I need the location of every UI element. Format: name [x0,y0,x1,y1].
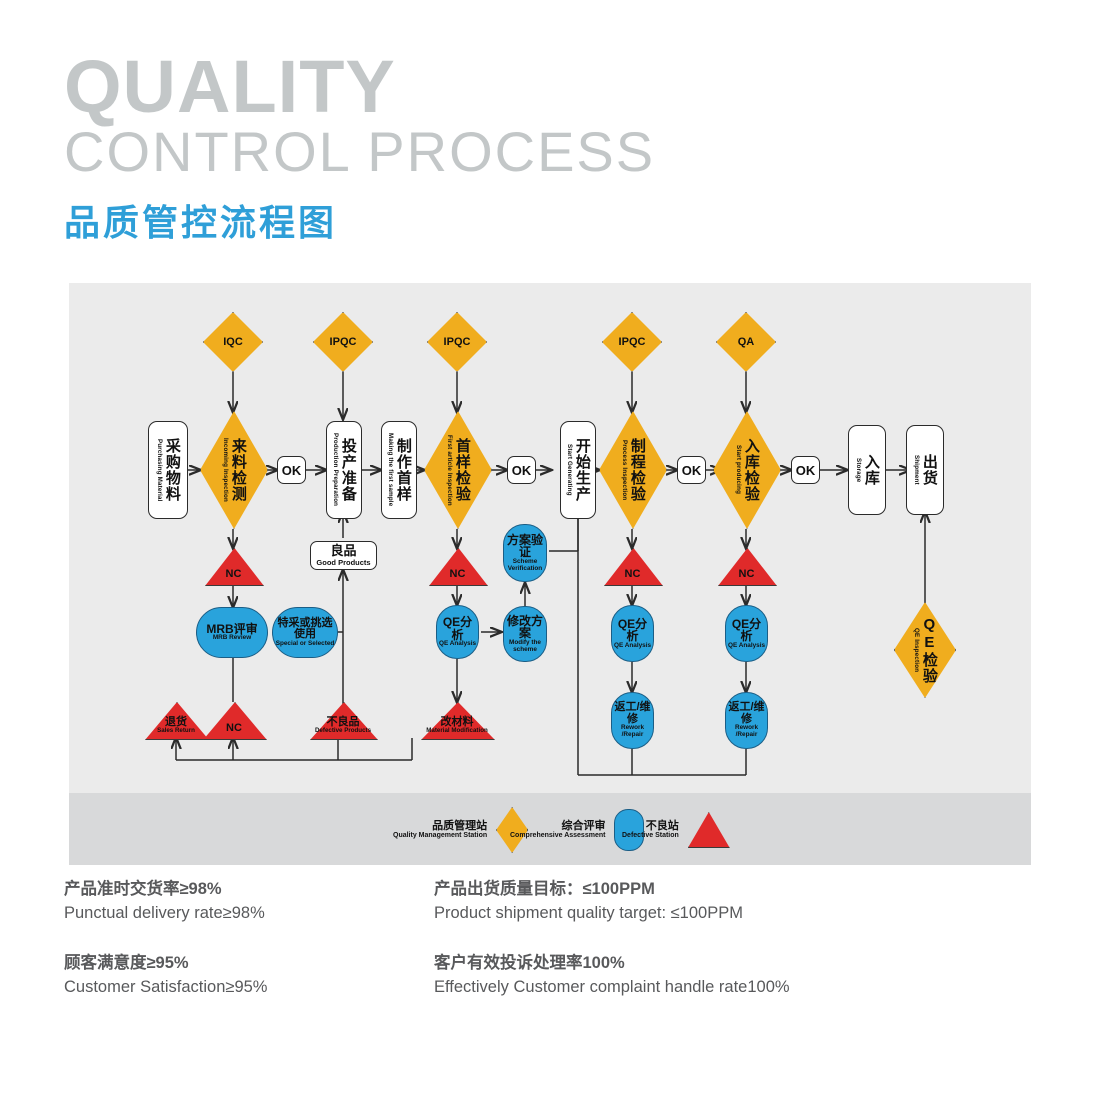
legend-label-en: Defective Station [622,832,679,840]
inspection-label-cn: 来料检测 [230,438,246,502]
blue-label-cn: 返工/维修 [612,702,653,725]
blue-label-en: QE Analysis [439,641,476,648]
blue-label-en: Scheme Verification [504,559,546,572]
blue-node-qe-analysis-1[interactable]: QE分析 QE Analysis [436,605,479,659]
process-label-cn: 制作首样 [395,438,411,502]
process-label-en: Start Generating [566,444,573,496]
good-products-label-en: Good Products [316,559,370,567]
process-label-cn: 开始生产 [574,438,590,502]
inspection-label-cn: 入库检验 [743,438,759,502]
inspection-label-en: Incoming Inspection [222,438,229,502]
defect-label: 改材料 Material Modification [421,717,493,734]
nc-label: NC [718,569,775,580]
blue-label-cn: QE分析 [726,618,767,643]
blue-label-cn: QE分析 [612,618,653,643]
blue-label-en: Special or Selected [276,641,335,648]
kpi-item: 客户有效投诉处理率100% Effectively Customer compl… [434,952,994,1000]
inspection-label-en: Process Inspection [621,440,628,500]
title-control-process: CONTROL PROCESS [64,124,964,180]
blue-label-en: Rework /Repair [612,725,653,738]
ok-badge-1[interactable]: OK [277,456,306,484]
defect-label-en: Sales Return [145,728,207,734]
blue-node-qe-analysis-2[interactable]: QE分析 QE Analysis [611,605,654,662]
nc-triangle-first-article[interactable]: NC [429,548,486,584]
nc-triangle-process[interactable]: NC [604,548,661,584]
process-label-en: Making the first sample [387,433,394,506]
process-label-en: Purchasing Material [156,439,163,502]
legend-item-defective-station: 不良站 Defective Station [622,812,730,848]
legend-label-cn: 不良站 [622,820,679,832]
inspection-label-cn: 首样检验 [454,438,470,502]
inspection-label-cn: QE检验 [921,616,937,684]
page-header: QUALITY CONTROL PROCESS 品质管控流程图 [64,52,964,246]
nc-label: NC [203,723,265,734]
blue-node-special-or-selected[interactable]: 特采或挑选使用 Special or Selected [272,607,338,658]
blue-label-en: Rework /Repair [726,725,767,738]
process-label-en: Shipment [913,455,920,485]
process-label-cn: 采购物料 [164,438,180,502]
blue-node-mrb-review[interactable]: MRB评审 MRB Review [196,607,268,658]
nc-triangle-incoming[interactable]: NC [205,548,262,584]
blue-label-cn: QE分析 [437,616,478,641]
blue-node-scheme-verification[interactable]: 方案验证 Scheme Verification [503,524,547,582]
kpi-label-en: Product shipment quality target: ≤100PPM [434,902,994,926]
kpi-label-cn: 顾客满意度≥95% [64,952,434,976]
defect-triangle-nc-bottom[interactable]: NC [203,702,265,738]
blue-label-en: MRB Review [213,635,251,642]
defect-triangle-material-modification[interactable]: 改材料 Material Modification [421,702,493,738]
blue-label-cn: 修改方案 [504,615,546,640]
ok-badge-4[interactable]: OK [791,456,820,484]
title-chinese: 品质管控流程图 [64,194,964,246]
kpi-label-en: Effectively Customer complaint handle ra… [434,976,994,1000]
kpi-label-cn: 客户有效投诉处理率100% [434,952,994,976]
blue-node-rework-repair-2[interactable]: 返工/维修 Rework /Repair [725,692,768,749]
defect-label-en: Defective Products [310,728,376,734]
legend-label-cn: 综合评审 [510,820,605,832]
process-box-purchasing-material[interactable]: 采购物料 Purchasing Material [148,421,188,519]
kpi-item: 产品准时交货率≥98% Punctual delivery rate≥98% [64,878,434,926]
blue-label-cn: 特采或挑选使用 [273,618,337,641]
kpi-item: 产品出货质量目标：≤100PPM Product shipment qualit… [434,878,994,926]
nc-label: NC [604,569,661,580]
blue-node-modify-scheme[interactable]: 修改方案 Modify the scheme [503,606,547,662]
legend-item-quality-management-station: 品质管理站 Quality Management Station [393,807,528,853]
triangle-icon [429,548,488,586]
nc-triangle-storage[interactable]: NC [718,548,775,584]
process-box-storage[interactable]: 入库 Storage [848,425,886,515]
good-products-label-cn: 良品 [330,544,356,558]
blue-label-en: Modify the scheme [504,640,546,653]
process-label-en: Storage [855,458,862,482]
kpi-label-cn: 产品准时交货率≥98% [64,878,434,902]
triangle-icon [205,548,264,586]
nc-label: NC [205,569,262,580]
defect-label: 不良品 Defective Products [310,717,376,734]
legend-label-en: Comprehensive Assessment [510,832,605,840]
inspector-label: QA [738,336,755,348]
ok-label: OK [796,463,816,478]
good-products-box[interactable]: 良品 Good Products [310,541,377,570]
ok-label: OK [682,463,702,478]
inspector-label: IPQC [330,336,357,348]
defect-triangle-sales-return[interactable]: 退货 Sales Return [145,702,207,738]
process-label-en: Production Preparation [332,433,339,506]
process-label-cn: 入库 [863,454,879,486]
inspector-label: IPQC [619,336,646,348]
blue-label-en: QE Analysis [728,643,765,650]
kpi-label-cn: 产品出货质量目标：≤100PPM [434,878,994,902]
triangle-icon [688,812,730,848]
ok-badge-3[interactable]: OK [677,456,706,484]
kpi-column-left: 产品准时交货率≥98% Punctual delivery rate≥98% 顾… [64,878,434,1026]
triangle-icon [718,548,777,586]
blue-label-en: QE Analysis [614,643,651,650]
kpi-column-right: 产品出货质量目标：≤100PPM Product shipment qualit… [434,878,994,1026]
inspection-label-en: QE Inspection [913,628,920,672]
blue-node-rework-repair-1[interactable]: 返工/维修 Rework /Repair [611,692,654,749]
legend-label-en: Quality Management Station [393,832,487,840]
inspection-label-cn: 制程检验 [629,438,645,502]
title-quality: QUALITY [64,52,964,122]
process-box-production-preparation[interactable]: 投产准备 Production Preparation [326,421,362,519]
kpi-label-en: Punctual delivery rate≥98% [64,902,434,926]
defect-label-en: Material Modification [421,728,493,734]
defect-label-cn: 退货 [165,716,187,728]
nc-label: NC [429,569,486,580]
blue-label-cn: 返工/维修 [726,702,767,725]
inspector-label: IQC [223,336,243,348]
triangle-icon [203,702,267,740]
blue-label-cn: 方案验证 [504,534,546,559]
defect-label-cn: 不良品 [327,716,360,728]
kpi-item: 顾客满意度≥95% Customer Satisfaction≥95% [64,952,434,1000]
defect-label: 退货 Sales Return [145,717,207,734]
defect-label-cn: 改材料 [441,716,474,728]
ok-badge-2[interactable]: OK [507,456,536,484]
legend-label-cn: 品质管理站 [393,820,487,832]
blue-node-qe-analysis-3[interactable]: QE分析 QE Analysis [725,605,768,662]
process-box-start-generating[interactable]: 开始生产 Start Generating [560,421,596,519]
triangle-icon [604,548,663,586]
ok-label: OK [282,463,302,478]
inspector-label: IPQC [444,336,471,348]
kpi-label-en: Customer Satisfaction≥95% [64,976,434,1000]
ok-label: OK [512,463,532,478]
inspection-label-en: Start producing [735,445,742,494]
process-box-making-first-sample[interactable]: 制作首样 Making the first sample [381,421,417,519]
defect-triangle-defective-products[interactable]: 不良品 Defective Products [310,702,376,738]
process-box-shipment[interactable]: 出货 Shipment [906,425,944,515]
inspection-label-en: First article Inspection [446,435,453,506]
process-label-cn: 出货 [921,454,937,486]
process-label-cn: 投产准备 [340,438,356,502]
